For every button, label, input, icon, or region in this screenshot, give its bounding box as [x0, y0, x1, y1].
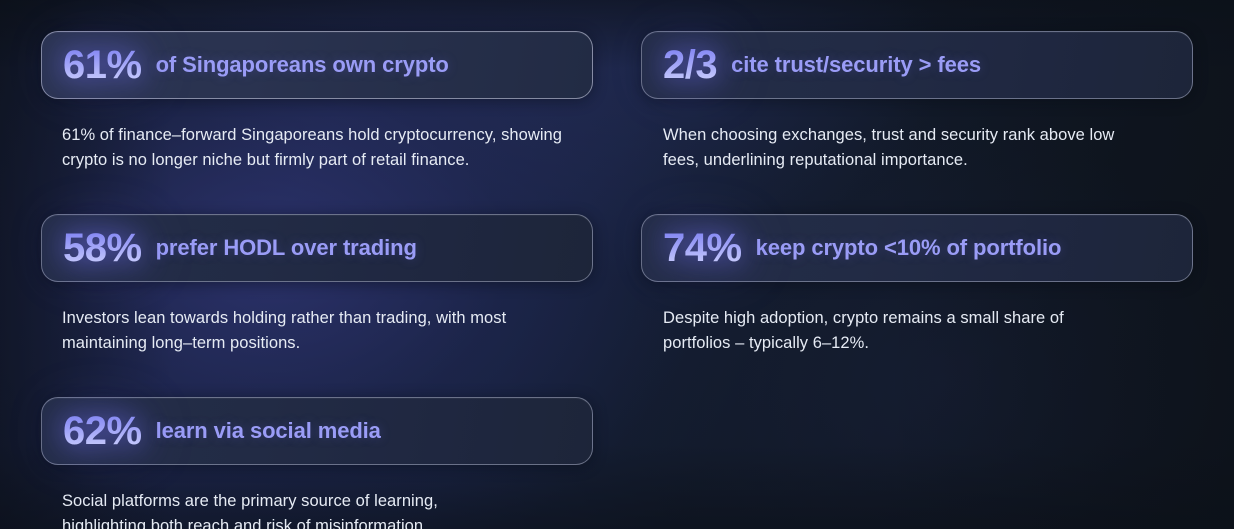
stats-column-left: 61% of Singaporeans own crypto 61% of fi…	[41, 31, 593, 529]
infographic-stats-panel: 61% of Singaporeans own crypto 61% of fi…	[0, 0, 1234, 529]
stat-description: When choosing exchanges, trust and secur…	[663, 123, 1193, 173]
description-line: crypto is no longer niche but firmly par…	[62, 148, 593, 173]
description-line: Despite high adoption, crypto remains a …	[663, 306, 1193, 331]
stat-description: Investors lean towards holding rather th…	[62, 306, 593, 356]
description-line: fees, underlining reputational importanc…	[663, 148, 1193, 173]
stat-description: 61% of finance–forward Singaporeans hold…	[62, 123, 593, 173]
stat-label: prefer HODL over trading	[156, 235, 417, 261]
stat-block-prefer-hodl: 58% prefer HODL over trading Investors l…	[41, 214, 593, 356]
stat-figure: 58%	[63, 228, 142, 268]
stats-grid: 61% of Singaporeans own crypto 61% of fi…	[0, 0, 1234, 31]
description-line: portfolios – typically 6–12%.	[663, 331, 1193, 356]
stat-pill-own-crypto[interactable]: 61% of Singaporeans own crypto	[41, 31, 593, 99]
stat-block-trust-security: 2/3 cite trust/security > fees When choo…	[641, 31, 1193, 173]
stat-description: Social platforms are the primary source …	[62, 489, 593, 529]
stat-block-own-crypto: 61% of Singaporeans own crypto 61% of fi…	[41, 31, 593, 173]
stat-figure: 74%	[663, 228, 742, 268]
stat-figure: 2/3	[663, 45, 717, 85]
description-line: Investors lean towards holding rather th…	[62, 306, 593, 331]
stat-description: Despite high adoption, crypto remains a …	[663, 306, 1193, 356]
stat-label: learn via social media	[156, 418, 381, 444]
stat-pill-prefer-hodl[interactable]: 58% prefer HODL over trading	[41, 214, 593, 282]
stat-figure: 62%	[63, 411, 142, 451]
stat-label: of Singaporeans own crypto	[156, 52, 449, 78]
stat-pill-portfolio-share[interactable]: 74% keep crypto <10% of portfolio	[641, 214, 1193, 282]
stat-label: keep crypto <10% of portfolio	[756, 235, 1062, 261]
stat-pill-trust-security[interactable]: 2/3 cite trust/security > fees	[641, 31, 1193, 99]
stat-block-portfolio-share: 74% keep crypto <10% of portfolio Despit…	[641, 214, 1193, 356]
stat-pill-social-media[interactable]: 62% learn via social media	[41, 397, 593, 465]
stats-column-right: 2/3 cite trust/security > fees When choo…	[641, 31, 1193, 393]
description-line: 61% of finance–forward Singaporeans hold…	[62, 123, 593, 148]
stat-figure: 61%	[63, 45, 142, 85]
description-line: Social platforms are the primary source …	[62, 489, 593, 514]
stat-block-social-media: 62% learn via social media Social platfo…	[41, 397, 593, 529]
description-line: When choosing exchanges, trust and secur…	[663, 123, 1193, 148]
description-line: highlighting both reach and risk of misi…	[62, 514, 593, 529]
description-line: maintaining long–term positions.	[62, 331, 593, 356]
stat-label: cite trust/security > fees	[731, 52, 981, 78]
